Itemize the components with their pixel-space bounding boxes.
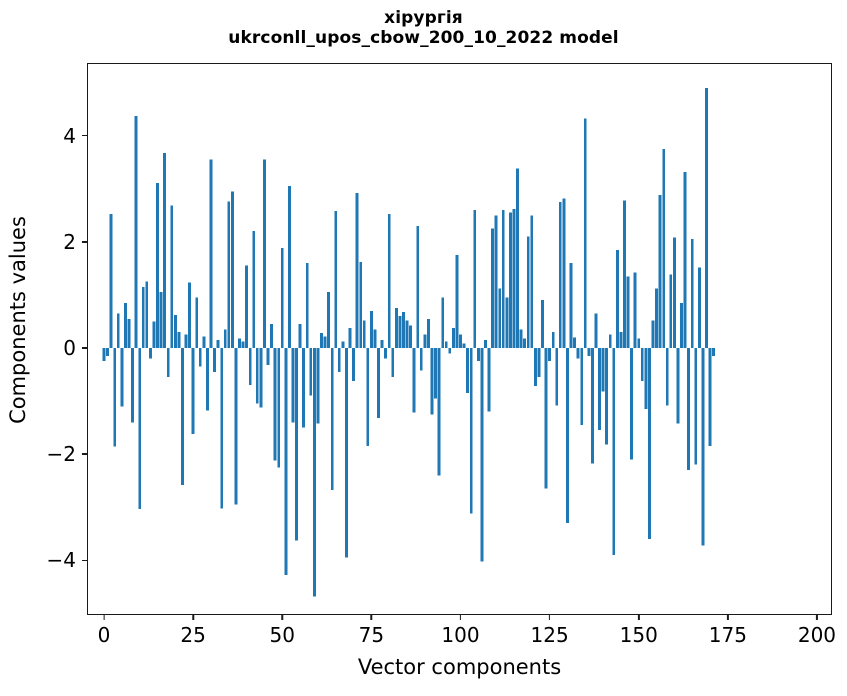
bar	[409, 326, 412, 348]
bar	[480, 348, 483, 561]
bar	[619, 332, 622, 348]
bar	[309, 348, 312, 396]
bar	[591, 348, 594, 464]
x-tick-mark	[460, 614, 461, 620]
x-tick-150: 150	[620, 614, 658, 645]
bar	[110, 214, 113, 348]
bar	[327, 292, 330, 348]
bar	[470, 348, 473, 514]
bar	[252, 231, 255, 348]
bar	[149, 348, 152, 359]
x-tick-mark	[549, 614, 550, 620]
bar	[316, 348, 319, 423]
bar	[416, 226, 419, 348]
bar	[694, 348, 697, 465]
bar	[505, 298, 508, 348]
bar	[341, 342, 344, 348]
bar	[555, 348, 558, 405]
bar	[288, 186, 291, 348]
x-tick-0: 0	[98, 614, 111, 645]
plot-area	[88, 64, 831, 614]
bar	[605, 348, 608, 445]
bar	[231, 191, 234, 348]
bar	[120, 348, 123, 406]
bar	[523, 338, 526, 348]
bar	[698, 267, 701, 348]
bar	[320, 333, 323, 348]
bar	[313, 348, 316, 596]
bar	[153, 321, 156, 348]
bar	[513, 209, 516, 348]
bar	[648, 348, 651, 539]
bar	[281, 248, 284, 348]
bar	[459, 335, 462, 348]
x-tick-label: 75	[359, 625, 384, 645]
bar	[277, 348, 280, 467]
bar	[338, 348, 341, 372]
bar	[402, 312, 405, 348]
y-tick-label: 2	[63, 232, 78, 252]
bar	[163, 153, 166, 348]
x-tick-label: 150	[620, 625, 658, 645]
bar	[684, 172, 687, 348]
bar	[423, 335, 426, 348]
bar	[295, 348, 298, 541]
bar	[206, 348, 209, 411]
bar	[516, 169, 519, 348]
bar	[331, 348, 334, 490]
x-tick-label: 50	[270, 625, 295, 645]
bar	[263, 160, 266, 348]
bar	[456, 255, 459, 348]
bar	[502, 210, 505, 348]
y-tick-mark	[82, 241, 88, 242]
bar	[662, 149, 665, 348]
bar-series	[88, 64, 831, 614]
bar	[406, 320, 409, 348]
bar	[427, 319, 430, 348]
x-tick-200: 200	[798, 614, 836, 645]
bar	[452, 328, 455, 348]
bar	[580, 348, 583, 425]
bar	[488, 348, 491, 412]
bar	[573, 337, 576, 348]
bar	[655, 289, 658, 348]
y-tick-label: −2	[47, 444, 78, 464]
bar	[192, 348, 195, 434]
bar	[473, 210, 476, 348]
bar	[299, 324, 302, 348]
bar	[274, 348, 277, 461]
bar	[652, 320, 655, 348]
bar	[637, 338, 640, 348]
bar	[370, 311, 373, 348]
bar	[484, 340, 487, 348]
bar	[160, 292, 163, 348]
bar	[530, 215, 533, 348]
bar	[570, 263, 573, 348]
x-tick-125: 125	[531, 614, 569, 645]
x-tick-label: 25	[180, 625, 205, 645]
bar	[284, 348, 287, 575]
y-tick-label: −4	[47, 550, 78, 570]
bar	[377, 348, 380, 418]
bar	[538, 348, 541, 377]
x-tick-mark	[638, 614, 639, 620]
bar	[541, 300, 544, 348]
bar	[584, 119, 587, 348]
bar	[306, 263, 309, 348]
x-tick-mark	[371, 614, 372, 620]
plot-axes: −4−2024 0255075100125150175200	[87, 63, 832, 615]
bar	[466, 348, 469, 393]
x-tick-100: 100	[441, 614, 479, 645]
x-tick-mark	[727, 614, 728, 620]
bar	[441, 298, 444, 348]
bar	[598, 348, 601, 430]
x-tick-25: 25	[180, 614, 205, 645]
bar	[220, 348, 223, 508]
y-tick-mark	[82, 560, 88, 561]
bar	[691, 239, 694, 348]
x-tick-label: 200	[798, 625, 836, 645]
bar	[292, 348, 295, 422]
bar	[644, 348, 647, 409]
bar	[602, 348, 605, 392]
bar	[705, 88, 708, 348]
x-axis-label: Vector components	[87, 655, 832, 679]
bar	[135, 116, 138, 348]
bar	[623, 200, 626, 348]
x-tick-label: 100	[441, 625, 479, 645]
bar	[259, 348, 262, 407]
bar	[595, 313, 598, 348]
x-tick-mark	[282, 614, 283, 620]
bar	[495, 215, 498, 348]
bar	[520, 329, 523, 348]
y-axis-label: Components values	[6, 170, 30, 470]
bar	[381, 340, 384, 348]
y-tick-mark	[82, 347, 88, 348]
bar	[106, 348, 109, 356]
bar	[445, 342, 448, 348]
bar	[562, 198, 565, 348]
bar	[388, 214, 391, 348]
bar	[177, 332, 180, 348]
bar	[701, 348, 704, 545]
bar	[267, 348, 270, 365]
bar	[138, 348, 141, 509]
bar	[131, 348, 134, 422]
bar	[256, 348, 259, 404]
bar	[170, 206, 173, 348]
x-tick-label: 175	[709, 625, 747, 645]
bar	[616, 250, 619, 348]
chart-subtitle: ukrconll_upos_cbow_200_10_2022 model	[0, 28, 847, 48]
bar	[677, 348, 680, 423]
bar	[103, 348, 106, 361]
chart-title-block: хірургія ukrconll_upos_cbow_200_10_2022 …	[0, 8, 847, 48]
y-tick-label: 4	[63, 126, 78, 146]
bar	[709, 348, 712, 446]
bar	[438, 348, 441, 475]
bar	[334, 211, 337, 348]
figure-canvas: хірургія ukrconll_upos_cbow_200_10_2022 …	[0, 0, 847, 696]
bar	[359, 262, 362, 348]
x-tick-mark	[192, 614, 193, 620]
bar	[587, 348, 590, 356]
bar	[356, 193, 359, 348]
bar	[687, 348, 690, 470]
bar	[174, 315, 177, 348]
bar	[128, 319, 131, 348]
bar	[345, 348, 348, 558]
bar	[509, 213, 512, 348]
bar	[113, 348, 116, 447]
bar	[552, 332, 555, 348]
x-tick-label: 0	[98, 625, 111, 645]
bar	[142, 287, 145, 348]
bar	[641, 348, 644, 381]
bar	[398, 316, 401, 348]
bar	[249, 348, 252, 385]
bar	[199, 348, 202, 367]
bar	[659, 195, 662, 348]
bar	[545, 348, 548, 489]
bar	[302, 348, 305, 428]
bar	[227, 201, 230, 347]
bar	[352, 348, 355, 381]
bar	[498, 289, 501, 348]
bar	[634, 273, 637, 348]
bar	[145, 282, 148, 348]
x-tick-mark	[816, 614, 817, 620]
bar	[420, 348, 423, 370]
bar	[185, 335, 188, 348]
bar	[188, 283, 191, 348]
bar	[463, 344, 466, 348]
bar	[391, 348, 394, 377]
x-tick-50: 50	[270, 614, 295, 645]
bar	[559, 202, 562, 348]
chart-title: хірургія	[0, 8, 847, 28]
bar	[374, 329, 377, 348]
bar	[235, 348, 238, 505]
bar	[395, 308, 398, 348]
bar	[566, 348, 569, 523]
x-tick-mark	[103, 614, 104, 620]
bar	[534, 348, 537, 386]
bar	[224, 329, 227, 348]
y-tick-mark	[82, 135, 88, 136]
bar	[384, 348, 387, 359]
bar	[548, 348, 551, 361]
bar	[117, 313, 120, 348]
bar	[612, 348, 615, 555]
bar	[349, 328, 352, 348]
x-tick-175: 175	[709, 614, 747, 645]
bar	[181, 348, 184, 485]
x-tick-75: 75	[359, 614, 384, 645]
bar	[448, 348, 451, 353]
bar	[195, 298, 198, 348]
y-tick-mark	[82, 453, 88, 454]
bar	[210, 160, 213, 348]
bar	[630, 348, 633, 459]
bar	[609, 335, 612, 348]
bar	[434, 348, 437, 398]
y-tick-label: 0	[63, 338, 78, 358]
bar	[666, 348, 669, 405]
bar	[242, 342, 245, 348]
bar	[167, 348, 170, 377]
bar	[627, 276, 630, 348]
bar	[431, 348, 434, 414]
bar	[202, 336, 205, 348]
bar	[213, 348, 216, 372]
bar	[270, 324, 273, 348]
bar	[238, 338, 241, 348]
bar	[324, 336, 327, 348]
bar	[217, 340, 220, 348]
bar	[669, 275, 672, 348]
bar	[124, 303, 127, 348]
bar	[413, 348, 416, 413]
bar	[712, 348, 715, 356]
bar	[477, 348, 480, 361]
bar	[680, 303, 683, 348]
bar	[363, 320, 366, 348]
bar	[156, 183, 159, 348]
bar	[577, 348, 580, 359]
bar	[527, 237, 530, 348]
x-tick-label: 125	[531, 625, 569, 645]
bar	[673, 238, 676, 348]
bar	[491, 229, 494, 348]
bar	[366, 348, 369, 446]
bar	[245, 266, 248, 348]
